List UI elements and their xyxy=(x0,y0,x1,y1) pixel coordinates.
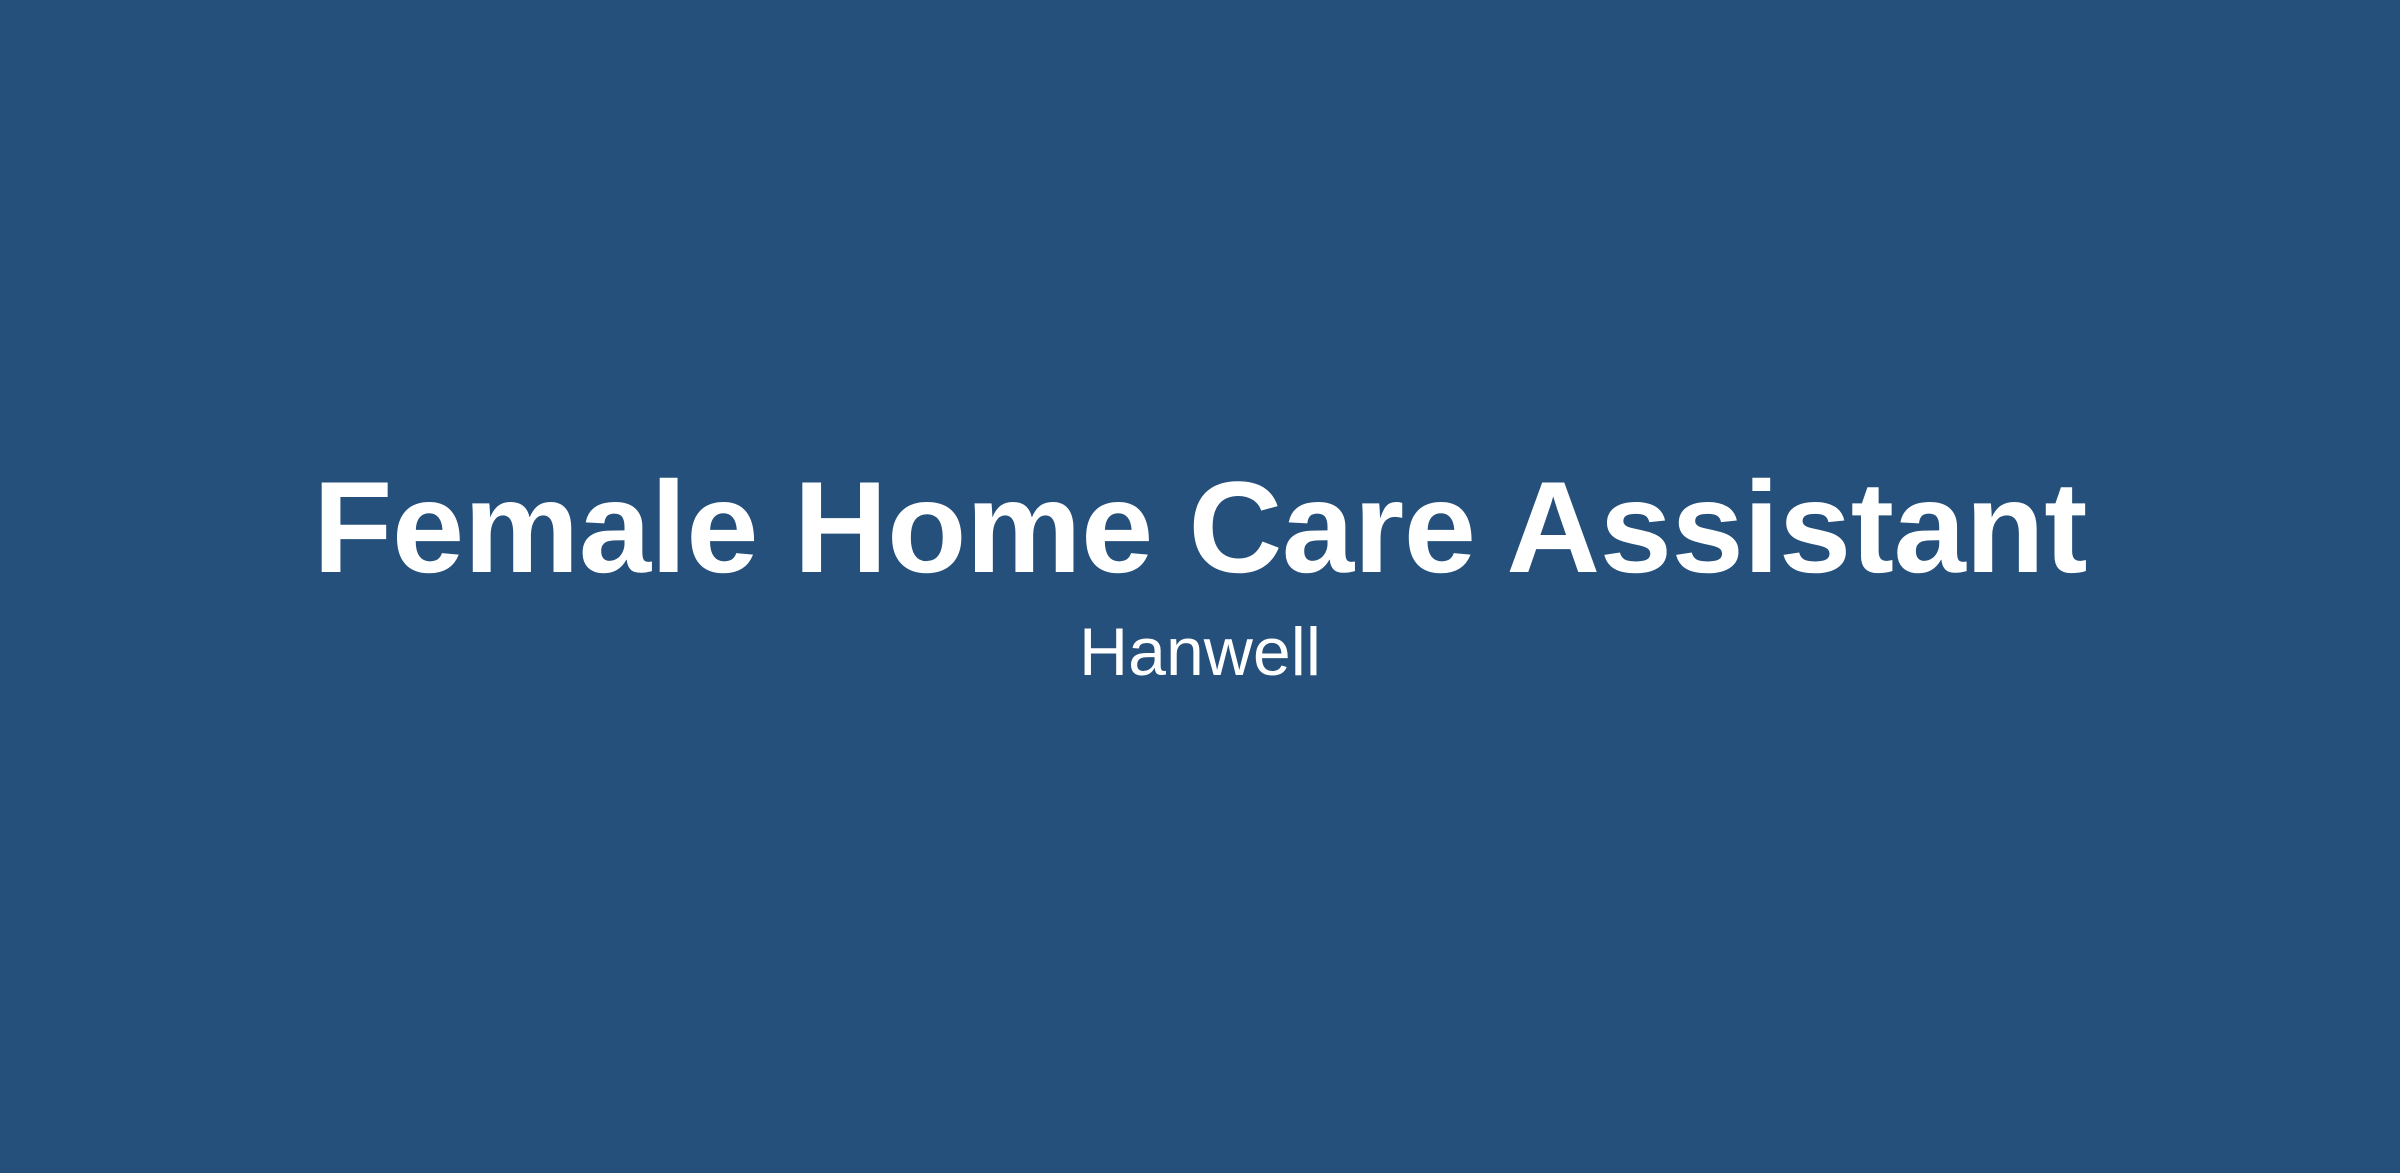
job-location-subtitle: Hanwell xyxy=(1079,618,1321,686)
job-banner: Female Home Care Assistant Hanwell xyxy=(0,0,2400,1173)
banner-content: Female Home Care Assistant Hanwell xyxy=(0,462,2400,686)
page-title: Female Home Care Assistant xyxy=(313,462,2087,592)
